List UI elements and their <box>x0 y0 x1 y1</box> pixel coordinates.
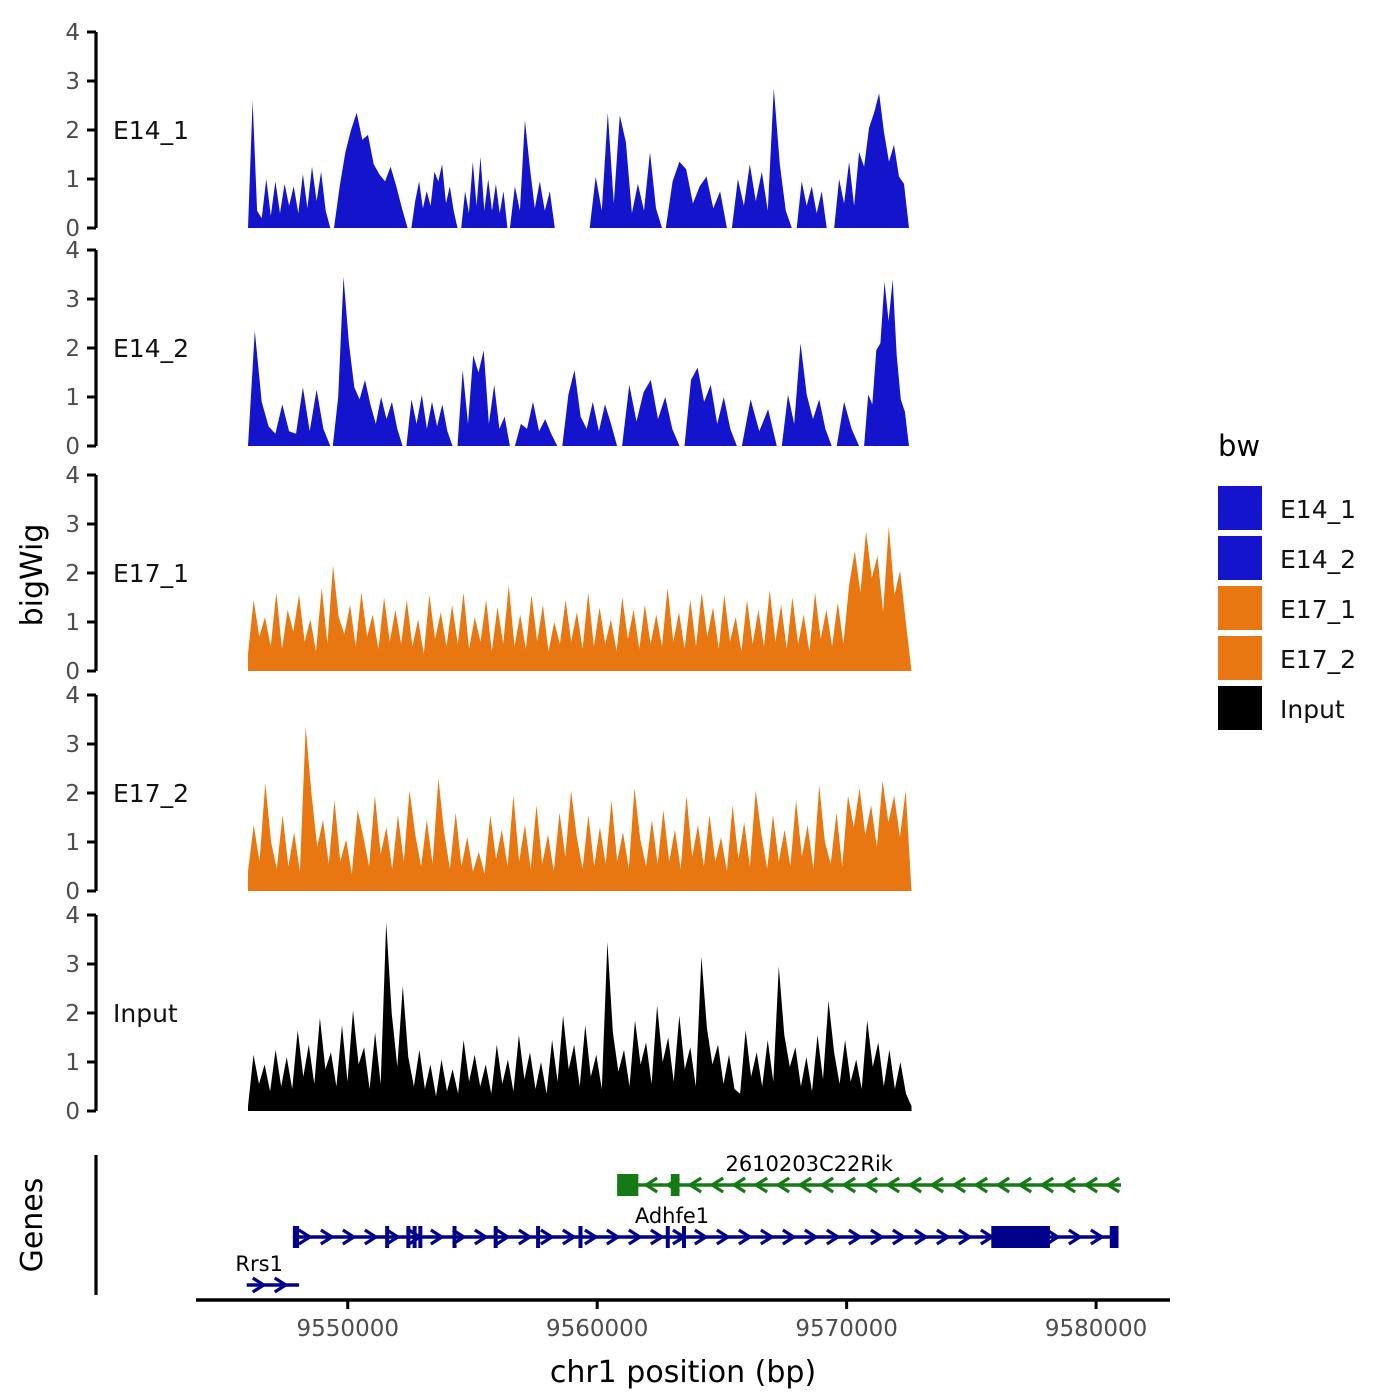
x-tick-label-9580000: 9580000 <box>1045 1316 1147 1342</box>
y-tick-label-Input-2: 2 <box>65 1001 80 1027</box>
legend-item-E17_1[interactable]: E17_1 <box>1218 586 1356 630</box>
y-tick-label-E17_2-3: 3 <box>65 732 80 758</box>
y-tick-label-E17_2-4: 4 <box>65 683 80 709</box>
panel-label-Input: Input <box>113 999 178 1028</box>
gene-label-2610203C22Rik: 2610203C22Rik <box>725 1152 893 1176</box>
genes-panel: Genes2610203C22RikAdhfe1Rrs1 <box>15 1152 1121 1295</box>
y-tick-label-E17_1-0: 0 <box>65 659 80 685</box>
gene-exon-Adhfe1-10 <box>682 1226 686 1248</box>
y-tick-label-E17_1-3: 3 <box>65 512 80 538</box>
signal-area-E14_2-1 <box>333 277 403 446</box>
gene-Adhfe1[interactable]: Adhfe1 <box>293 1204 1119 1248</box>
signal-area-E17_2-0 <box>248 727 912 891</box>
legend-item-E14_2[interactable]: E14_2 <box>1218 536 1356 580</box>
track-panel-E17_2: 01234E17_2 <box>65 683 911 905</box>
y-tick-label-E14_2-1: 1 <box>65 385 80 411</box>
legend-label-Input: Input <box>1280 695 1345 724</box>
gene-exon-Adhfe1-4 <box>418 1226 422 1248</box>
y-tick-label-E17_1-1: 1 <box>65 610 80 636</box>
y-axis-title: bigWig <box>15 524 50 627</box>
signal-area-E14_2-7 <box>685 368 737 446</box>
signal-area-E14_1-9 <box>834 93 909 228</box>
y-tick-label-Input-1: 1 <box>65 1050 80 1076</box>
signal-area-E14_1-3 <box>461 157 507 228</box>
signal-area-E14_2-10 <box>837 402 859 446</box>
signal-area-Input-0 <box>248 922 912 1111</box>
y-tick-label-E14_1-2: 2 <box>65 118 80 144</box>
gene-exon-Adhfe1-9 <box>666 1226 670 1248</box>
gene-exon-Adhfe1-8 <box>578 1226 582 1248</box>
gene-exon-Adhfe1-6 <box>494 1226 498 1248</box>
legend-item-Input[interactable]: Input <box>1218 686 1345 730</box>
signal-area-E14_2-3 <box>458 350 510 446</box>
signal-area-E14_1-8 <box>797 181 827 228</box>
legend: bwE14_1E14_2E17_1E17_2Input <box>1218 429 1356 730</box>
signal-area-E14_2-0 <box>248 331 330 446</box>
gene-exon-Adhfe1-12 <box>1110 1226 1119 1248</box>
y-tick-label-Input-4: 4 <box>65 903 80 929</box>
signal-area-E14_1-0 <box>248 101 330 228</box>
y-tick-label-Input-0: 0 <box>65 1099 80 1125</box>
signal-area-E14_2-6 <box>622 380 679 446</box>
signal-area-E14_2-4 <box>515 402 557 446</box>
y-tick-label-E17_1-2: 2 <box>65 561 80 587</box>
y-axis-title-text: bigWig <box>15 524 50 627</box>
y-tick-label-E14_1-1: 1 <box>65 167 80 193</box>
signal-area-E14_1-6 <box>666 162 727 228</box>
signal-area-E14_1-2 <box>411 164 457 228</box>
y-tick-label-E14_2-3: 3 <box>65 287 80 313</box>
legend-label-E17_1: E17_1 <box>1280 595 1356 624</box>
x-tick-label-9550000: 9550000 <box>297 1316 399 1342</box>
x-tick-label-9570000: 9570000 <box>795 1316 897 1342</box>
track-panel-E17_1: 01234E17_1 <box>65 463 911 685</box>
legend-title: bw <box>1218 429 1260 463</box>
legend-swatch-E17_2 <box>1218 636 1262 680</box>
y-tick-label-E14_2-2: 2 <box>65 336 80 362</box>
gene-exon-Adhfe1-0 <box>293 1226 299 1248</box>
gene-exon-Adhfe1-2 <box>406 1226 410 1248</box>
gene-label-Adhfe1: Adhfe1 <box>635 1204 709 1228</box>
track-panel-E14_1: 01234E14_1 <box>65 20 909 242</box>
y-tick-label-E14_1-3: 3 <box>65 69 80 95</box>
y-tick-label-E14_1-4: 4 <box>65 20 80 46</box>
legend-swatch-E14_2 <box>1218 536 1262 580</box>
gene-exon-2610203C22Rik-1 <box>671 1174 680 1196</box>
signal-area-E14_2-9 <box>782 343 832 446</box>
y-tick-label-E17_2-0: 0 <box>65 879 80 905</box>
signal-area-E14_2-2 <box>406 395 452 446</box>
legend-label-E14_1: E14_1 <box>1280 495 1356 524</box>
track-panel-Input: 01234Input <box>65 903 911 1125</box>
legend-swatch-Input <box>1218 686 1262 730</box>
x-axis-title-text: chr1 position (bp) <box>550 1355 816 1390</box>
legend-swatch-E14_1 <box>1218 486 1262 530</box>
figure-root: 01234E14_101234E14_201234E17_101234E17_2… <box>0 0 1400 1400</box>
signal-area-E14_1-1 <box>334 113 408 228</box>
y-tick-label-E17_2-1: 1 <box>65 830 80 856</box>
gene-label-Rrs1: Rrs1 <box>235 1252 283 1276</box>
gene-Rrs1[interactable]: Rrs1 <box>235 1252 299 1292</box>
gene-2610203C22Rik[interactable]: 2610203C22Rik <box>617 1152 1121 1196</box>
x-axis: 9550000956000095700009580000chr1 positio… <box>196 1300 1170 1390</box>
signal-area-E14_1-5 <box>590 113 662 228</box>
y-tick-label-E14_2-0: 0 <box>65 434 80 460</box>
y-tick-label-E17_1-4: 4 <box>65 463 80 489</box>
legend-swatch-E17_1 <box>1218 586 1262 630</box>
genes-axis-title-text: Genes <box>15 1178 50 1273</box>
legend-item-E17_2[interactable]: E17_2 <box>1218 636 1356 680</box>
panel-label-E17_1: E17_1 <box>113 559 189 588</box>
panel-label-E14_1: E14_1 <box>113 116 189 145</box>
legend-item-E14_1[interactable]: E14_1 <box>1218 486 1356 530</box>
y-tick-label-E17_2-2: 2 <box>65 781 80 807</box>
gene-exon-Adhfe1-11 <box>991 1226 1050 1248</box>
y-tick-label-Input-3: 3 <box>65 952 80 978</box>
legend-label-E14_2: E14_2 <box>1280 545 1356 574</box>
gene-exon-Adhfe1-7 <box>536 1226 540 1248</box>
x-tick-label-9560000: 9560000 <box>546 1316 648 1342</box>
signal-area-E14_2-11 <box>864 279 909 446</box>
panel-label-E17_2: E17_2 <box>113 779 189 808</box>
signal-area-E17_1-0 <box>248 527 912 672</box>
signal-area-E14_2-8 <box>742 399 777 446</box>
gene-exon-2610203C22Rik-0 <box>617 1174 638 1196</box>
signal-area-E14_1-4 <box>510 120 555 228</box>
signal-area-E14_2-5 <box>562 370 617 446</box>
signal-area-E14_1-7 <box>732 88 792 228</box>
track-panel-E14_2: 01234E14_2 <box>65 238 909 460</box>
legend-label-E17_2: E17_2 <box>1280 645 1356 674</box>
gene-exon-Adhfe1-5 <box>453 1226 457 1248</box>
gene-exon-Adhfe1-1 <box>385 1226 389 1248</box>
panel-label-E14_2: E14_2 <box>113 334 189 363</box>
y-tick-label-E14_2-4: 4 <box>65 238 80 264</box>
gene-exon-Adhfe1-3 <box>413 1226 417 1248</box>
genome-browser-figure: 01234E14_101234E14_201234E17_101234E17_2… <box>0 0 1400 1400</box>
